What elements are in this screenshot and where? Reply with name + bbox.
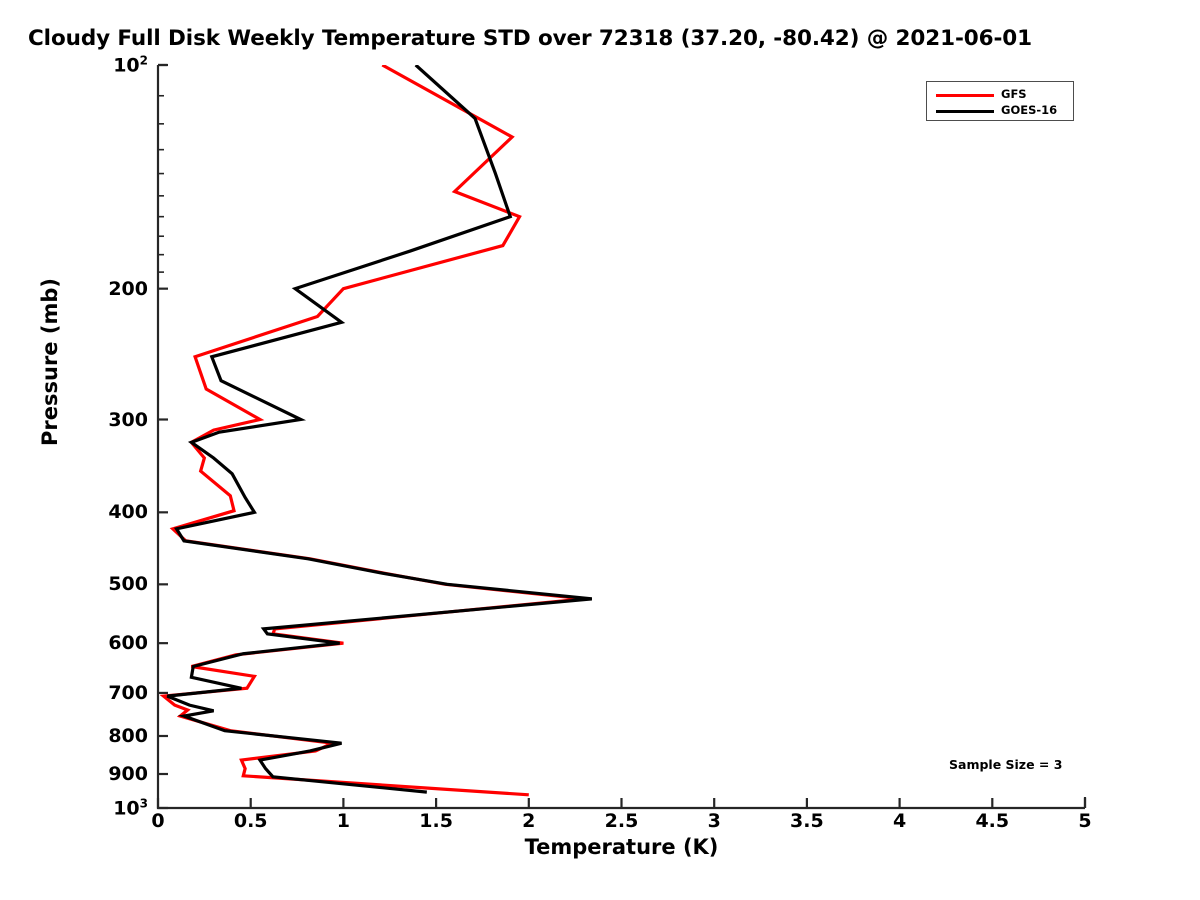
y-tick-label: 600: [108, 632, 148, 654]
x-tick-label: 4: [893, 810, 906, 832]
y-tick-label: 300: [108, 409, 148, 431]
y-tick-label: 500: [108, 573, 148, 595]
y-tick-label: 200: [108, 278, 148, 300]
chart-legend: GFSGOES-16: [926, 81, 1074, 121]
y-tick-label: 700: [108, 682, 148, 704]
y-tick-label: 900: [108, 763, 148, 785]
figure: Cloudy Full Disk Weekly Temperature STD …: [0, 0, 1200, 900]
x-tick-label: 2: [522, 810, 535, 832]
y-tick-label: 800: [108, 725, 148, 747]
sample-size-annotation: Sample Size = 3: [949, 757, 1062, 772]
x-tick-label: 3.5: [790, 810, 824, 832]
series-line-goes-16: [167, 65, 592, 792]
y-tick-label: 103: [113, 796, 148, 819]
legend-label: GFS: [1001, 89, 1027, 101]
y-tick-label: 102: [113, 53, 148, 76]
x-tick-label: 5: [1078, 810, 1091, 832]
x-tick-label: 4.5: [975, 810, 1009, 832]
axis-spines: [158, 65, 1085, 808]
legend-label: GOES-16: [1001, 105, 1057, 117]
legend-swatch-line: [936, 110, 994, 113]
x-tick-label: 0: [151, 810, 164, 832]
x-tick-label: 3: [708, 810, 721, 832]
x-tick-label: 2.5: [605, 810, 639, 832]
legend-swatch-line: [936, 94, 994, 97]
x-tick-label: 1.5: [419, 810, 453, 832]
y-tick-label: 400: [108, 501, 148, 523]
x-tick-label: 1: [337, 810, 350, 832]
x-tick-label: 0.5: [234, 810, 268, 832]
legend-entry: GOES-16: [927, 102, 1073, 120]
